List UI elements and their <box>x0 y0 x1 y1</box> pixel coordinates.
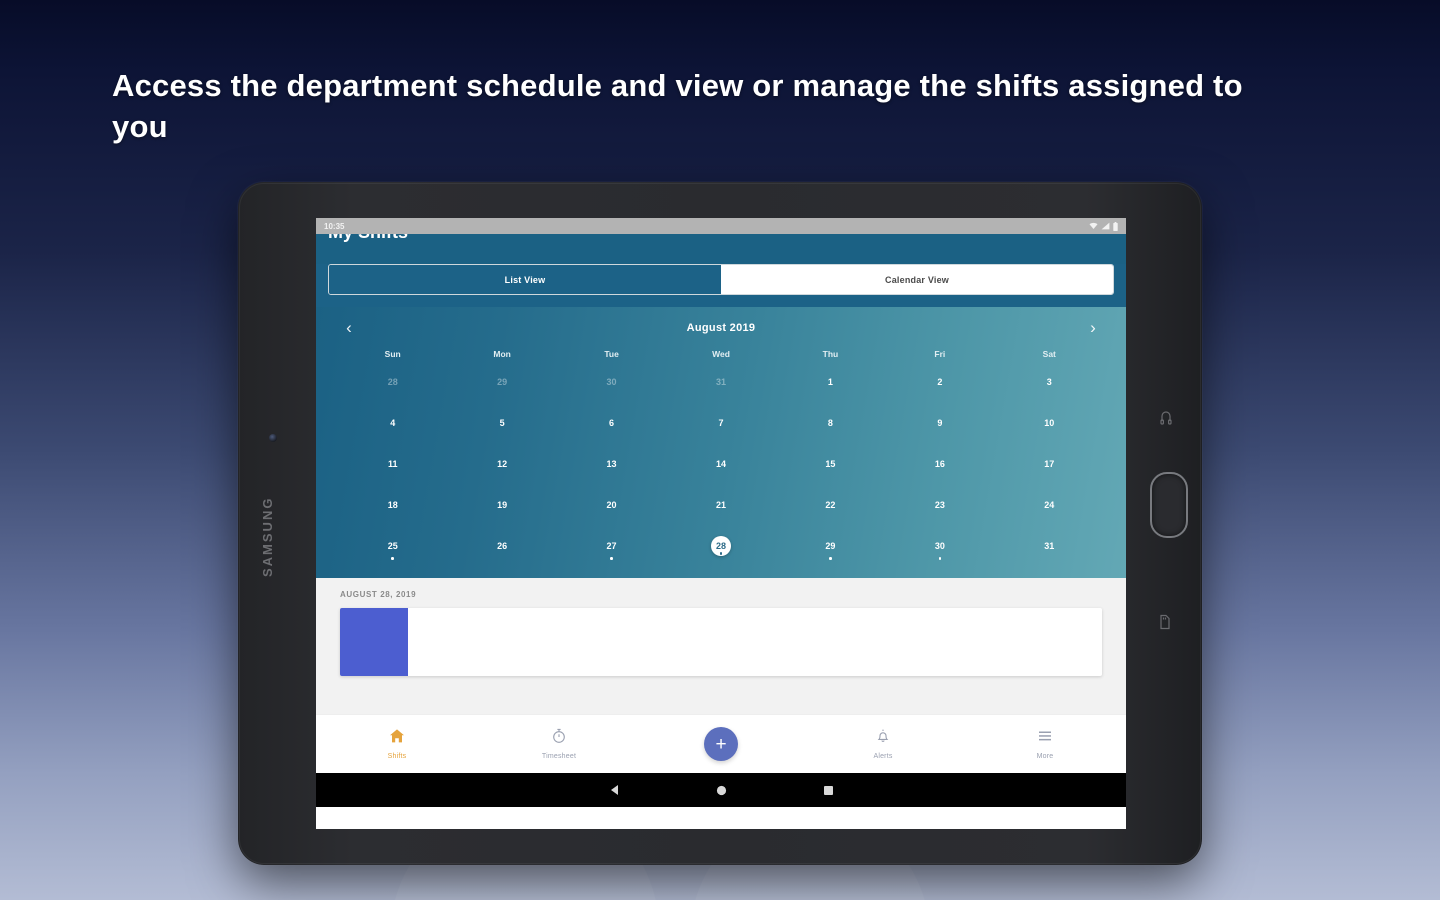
calendar-day-event-dot <box>829 557 832 560</box>
tab-list-view[interactable]: List View <box>329 265 721 294</box>
calendar-day-cell[interactable]: 26 <box>447 531 556 568</box>
nav-item-label: Shifts <box>388 753 407 760</box>
calendar-week-row: 25262728293031 <box>338 531 1104 568</box>
calendar-day-number: 28 <box>383 372 403 392</box>
plus-icon[interactable]: + <box>704 727 738 761</box>
calendar-day-cell[interactable]: 13 <box>557 449 666 486</box>
add-button-container: + <box>640 727 802 761</box>
tab-calendar-view[interactable]: Calendar View <box>721 265 1113 294</box>
shift-date-heading: AUGUST 28, 2019 <box>340 590 1102 599</box>
samsung-brand-logo: SAMSUNG <box>260 482 280 592</box>
calendar-day-number: 2 <box>930 372 950 392</box>
tablet-screen: 10:35 My Shifts List View Calendar View <box>316 218 1126 829</box>
calendar-dow-wed: Wed <box>666 349 775 363</box>
calendar-day-number: 19 <box>492 495 512 515</box>
calendar-day-event-dot <box>720 552 723 555</box>
shift-list-panel: AUGUST 28, 2019 <box>316 578 1126 714</box>
calendar-day-cell[interactable]: 27 <box>557 531 666 568</box>
calendar-day-cell[interactable]: 15 <box>776 449 885 486</box>
calendar-day-number: 30 <box>602 372 622 392</box>
stopwatch-icon <box>551 728 567 749</box>
home-icon <box>389 728 405 749</box>
calendar-day-cell[interactable]: 2 <box>885 367 994 404</box>
nav-item-label: Alerts <box>873 753 892 760</box>
calendar-day-number: 24 <box>1039 495 1059 515</box>
calendar-dow-thu: Thu <box>776 349 885 363</box>
home-circle-icon[interactable] <box>716 785 727 796</box>
calendar-day-number: 7 <box>711 413 731 433</box>
recents-square-icon[interactable] <box>823 785 834 796</box>
calendar-day-number: 1 <box>820 372 840 392</box>
calendar-day-number: 29 <box>820 536 840 556</box>
calendar-day-number: 25 <box>383 536 403 556</box>
calendar-day-cell[interactable]: 28 <box>338 367 447 404</box>
calendar-day-cell[interactable]: 1 <box>776 367 885 404</box>
calendar-day-cell[interactable]: 16 <box>885 449 994 486</box>
calendar-day-cell[interactable]: 18 <box>338 490 447 527</box>
calendar-day-cell[interactable]: 28 <box>666 531 775 568</box>
menu-icon <box>1037 728 1053 749</box>
calendar-day-number: 9 <box>930 413 950 433</box>
calendar-dow-sat: Sat <box>995 349 1104 363</box>
calendar-day-number: 22 <box>820 495 840 515</box>
calendar-day-cell[interactable]: 21 <box>666 490 775 527</box>
calendar-dow-tue: Tue <box>557 349 666 363</box>
calendar-week-row: 45678910 <box>338 408 1104 445</box>
calendar-day-number: 16 <box>930 454 950 474</box>
calendar-day-number: 23 <box>930 495 950 515</box>
calendar-day-number: 31 <box>1039 536 1059 556</box>
calendar-day-cell[interactable]: 19 <box>447 490 556 527</box>
battery-icon <box>1113 222 1118 231</box>
calendar-day-number: 31 <box>711 372 731 392</box>
shift-card[interactable] <box>340 608 1102 676</box>
calendar-dow-fri: Fri <box>885 349 994 363</box>
calendar-dow-sun: Sun <box>338 349 447 363</box>
calendar-day-cell[interactable]: 17 <box>995 449 1104 486</box>
page-title: My Shifts <box>328 234 408 243</box>
back-triangle-icon[interactable] <box>609 784 620 796</box>
calendar-day-cell[interactable]: 30 <box>885 531 994 568</box>
calendar-day-cell[interactable]: 10 <box>995 408 1104 445</box>
nav-item-label: More <box>1037 753 1054 760</box>
calendar-day-number: 30 <box>930 536 950 556</box>
calendar-day-cell[interactable]: 11 <box>338 449 447 486</box>
view-segmented-control[interactable]: List View Calendar View <box>328 264 1114 295</box>
calendar-day-number: 5 <box>492 413 512 433</box>
signal-icon <box>1101 222 1110 230</box>
calendar-week-row: 18192021222324 <box>338 490 1104 527</box>
calendar-day-number: 15 <box>820 454 840 474</box>
calendar-dow-mon: Mon <box>447 349 556 363</box>
calendar-day-cell[interactable]: 9 <box>885 408 994 445</box>
calendar-day-number: 29 <box>492 372 512 392</box>
calendar-day-number: 12 <box>492 454 512 474</box>
calendar-week-row: 11121314151617 <box>338 449 1104 486</box>
calendar-week-row: 28293031123 <box>338 367 1104 404</box>
calendar-day-cell[interactable]: 29 <box>776 531 885 568</box>
calendar-month-label: August 2019 <box>687 322 756 334</box>
bottom-navigation-bar: ShiftsTimesheet+AlertsMore <box>316 714 1126 773</box>
chevron-right-icon[interactable]: › <box>1082 317 1104 339</box>
calendar-grid: 2829303112345678910111213141516171819202… <box>338 367 1104 568</box>
tablet-device: SAMSUNG 10:35 My Shift <box>238 182 1202 865</box>
calendar-day-cell[interactable]: 14 <box>666 449 775 486</box>
calendar-day-number: 6 <box>602 413 622 433</box>
calendar-widget: ‹ August 2019 › SunMonTueWedThuFriSat 28… <box>316 307 1126 578</box>
calendar-day-number: 20 <box>602 495 622 515</box>
shift-card-list <box>340 608 1102 676</box>
calendar-day-cell[interactable]: 31 <box>995 531 1104 568</box>
wifi-icon <box>1089 222 1098 230</box>
calendar-day-cell[interactable]: 6 <box>557 408 666 445</box>
calendar-day-cell[interactable]: 5 <box>447 408 556 445</box>
calendar-day-event-dot <box>939 557 942 560</box>
calendar-day-number: 13 <box>602 454 622 474</box>
shift-date-badge <box>340 608 408 676</box>
calendar-day-number: 3 <box>1039 372 1059 392</box>
calendar-day-cell[interactable]: 29 <box>447 367 556 404</box>
calendar-day-cell[interactable]: 4 <box>338 408 447 445</box>
nav-item-timesheet[interactable]: Timesheet <box>478 728 640 760</box>
calendar-day-cell[interactable]: 22 <box>776 490 885 527</box>
hardware-home-button[interactable] <box>1150 472 1188 538</box>
calendar-day-cell[interactable]: 25 <box>338 531 447 568</box>
nav-item-label: Timesheet <box>542 753 576 760</box>
nav-item-shifts[interactable]: Shifts <box>316 728 478 760</box>
chevron-left-icon[interactable]: ‹ <box>338 317 360 339</box>
nav-item-more[interactable]: More <box>964 728 1126 760</box>
calendar-day-cell[interactable]: 24 <box>995 490 1104 527</box>
bell-icon <box>875 728 891 749</box>
android-navigation-bar <box>316 773 1126 807</box>
calendar-day-number: 27 <box>602 536 622 556</box>
calendar-day-cell[interactable]: 3 <box>995 367 1104 404</box>
calendar-day-headers: SunMonTueWedThuFriSat <box>338 349 1104 363</box>
calendar-day-cell[interactable]: 20 <box>557 490 666 527</box>
calendar-day-cell[interactable]: 12 <box>447 449 556 486</box>
sd-card-slot-icon <box>1158 614 1172 630</box>
calendar-day-number: 11 <box>383 454 403 474</box>
calendar-day-number: 4 <box>383 413 403 433</box>
android-status-bar: 10:35 <box>316 218 1126 234</box>
shift-details <box>408 608 1102 676</box>
status-bar-time: 10:35 <box>324 222 344 231</box>
headphone-jack-icon <box>1158 410 1174 426</box>
calendar-day-event-dot <box>391 557 394 560</box>
calendar-header: ‹ August 2019 › <box>338 313 1104 343</box>
page-headline: Access the department schedule and view … <box>112 66 1292 148</box>
calendar-day-number: 21 <box>711 495 731 515</box>
calendar-day-cell[interactable]: 8 <box>776 408 885 445</box>
calendar-day-cell[interactable]: 30 <box>557 367 666 404</box>
calendar-day-number: 10 <box>1039 413 1059 433</box>
calendar-day-cell[interactable]: 7 <box>666 408 775 445</box>
calendar-day-cell[interactable]: 31 <box>666 367 775 404</box>
calendar-day-number: 26 <box>492 536 512 556</box>
front-camera-icon <box>269 434 277 442</box>
calendar-day-number: 14 <box>711 454 731 474</box>
calendar-day-number: 18 <box>383 495 403 515</box>
calendar-day-cell[interactable]: 23 <box>885 490 994 527</box>
calendar-day-event-dot <box>610 557 613 560</box>
app-header-bar: My Shifts <box>316 234 1126 264</box>
view-switch-container: List View Calendar View <box>316 264 1126 307</box>
nav-item-alerts[interactable]: Alerts <box>802 728 964 760</box>
status-bar-icons <box>1089 222 1118 231</box>
calendar-day-number: 17 <box>1039 454 1059 474</box>
screenshot-root: Access the department schedule and view … <box>0 0 1440 900</box>
calendar-day-number: 8 <box>820 413 840 433</box>
